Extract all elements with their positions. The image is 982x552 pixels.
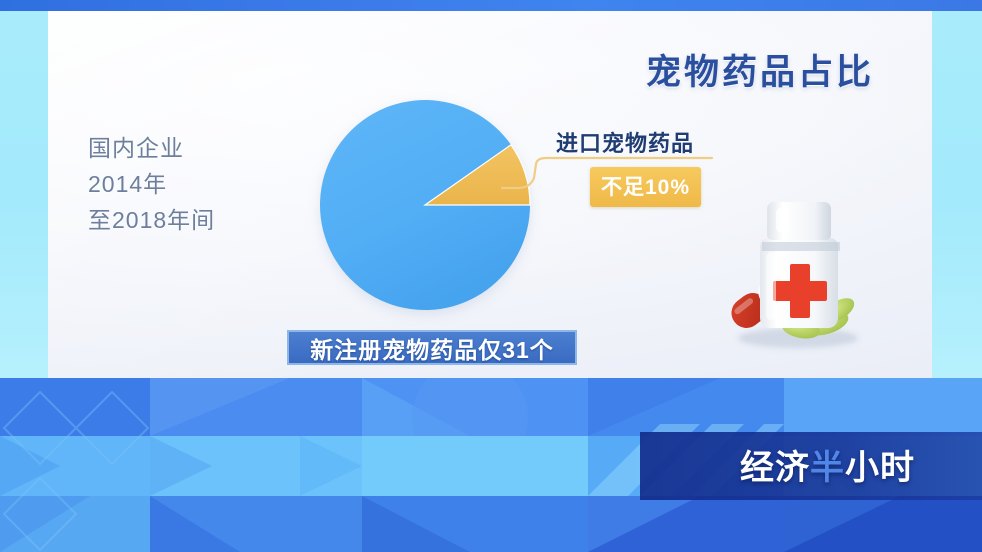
- side-note: 国内企业 2014年 至2018年间: [88, 130, 215, 238]
- logo-part-2: 半: [810, 449, 845, 487]
- medicine-bottle-icon: [706, 186, 876, 356]
- page-title: 宠物药品占比: [646, 44, 874, 95]
- status-badge: 不足10%: [590, 167, 701, 207]
- broadcast-graphic: 宠物药品占比 国内企业 2014年 至2018年间: [0, 0, 982, 552]
- side-note-line-2: 2014年: [88, 166, 215, 202]
- logo-part-1: 经济: [740, 449, 810, 487]
- caption-bar: 新注册宠物药品仅31个: [287, 330, 577, 365]
- top-accent-strip: [0, 0, 982, 11]
- right-edge-band: [932, 11, 982, 378]
- channel-logo: 经济半小时: [740, 440, 915, 489]
- pie-svg: [318, 98, 532, 312]
- caption-bar-text: 新注册宠物药品仅31个: [310, 331, 554, 365]
- left-edge-band: [0, 11, 48, 378]
- side-note-line-1: 国内企业: [88, 130, 215, 166]
- side-note-line-3: 至2018年间: [88, 202, 215, 238]
- logo-part-3: 小时: [845, 449, 915, 487]
- callout-label: 进口宠物药品: [556, 126, 694, 158]
- pie-chart: [318, 98, 532, 312]
